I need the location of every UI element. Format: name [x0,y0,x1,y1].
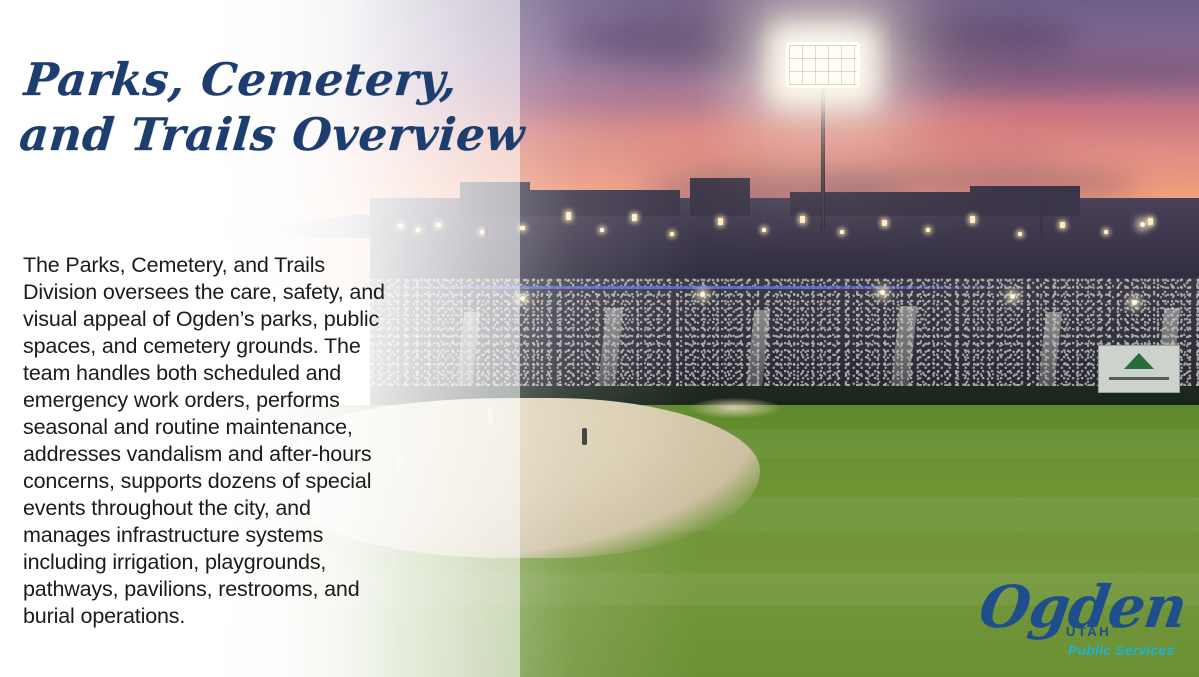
slide: Parks, Cemetery, and Trails Overview The… [0,0,1199,677]
stadium-light [1132,300,1137,305]
stadium-light [1140,222,1145,227]
stadium-light [880,290,885,295]
outfield-ad-sign [1098,345,1180,393]
ad-sign-text-line [1109,377,1169,380]
light-tower-pole [821,78,825,230]
body-paragraph: The Parks, Cemetery, and Trails Division… [23,252,403,630]
background-buildings [370,198,1199,288]
crowd [370,278,1199,390]
page-title-line-2: and Trails Overview [17,107,452,162]
player-figure [488,407,493,424]
stadium-light [700,292,705,297]
utah-label: UTAH™ [1066,624,1118,639]
utility-pole [1040,200,1043,242]
stadium-light [1010,294,1015,299]
department-label: Public Services [1068,642,1175,658]
utah-text: UTAH [1066,624,1111,639]
page-title: Parks, Cemetery, and Trails Overview [17,52,457,162]
page-title-line-1: Parks, Cemetery, [22,52,457,107]
stadium-stands [370,278,1199,390]
player-figure [582,428,587,445]
stadium-light-array [786,42,860,88]
pitchers-mound [690,398,780,418]
trademark-symbol: ™ [1111,626,1118,633]
utility-pole [485,196,488,244]
stands-railing [372,286,1032,289]
ogden-public-services-logo: Ogden UTAH™ Public Services [980,578,1190,668]
stadium-light [520,296,525,301]
mountain-logo-icon [1124,353,1154,369]
